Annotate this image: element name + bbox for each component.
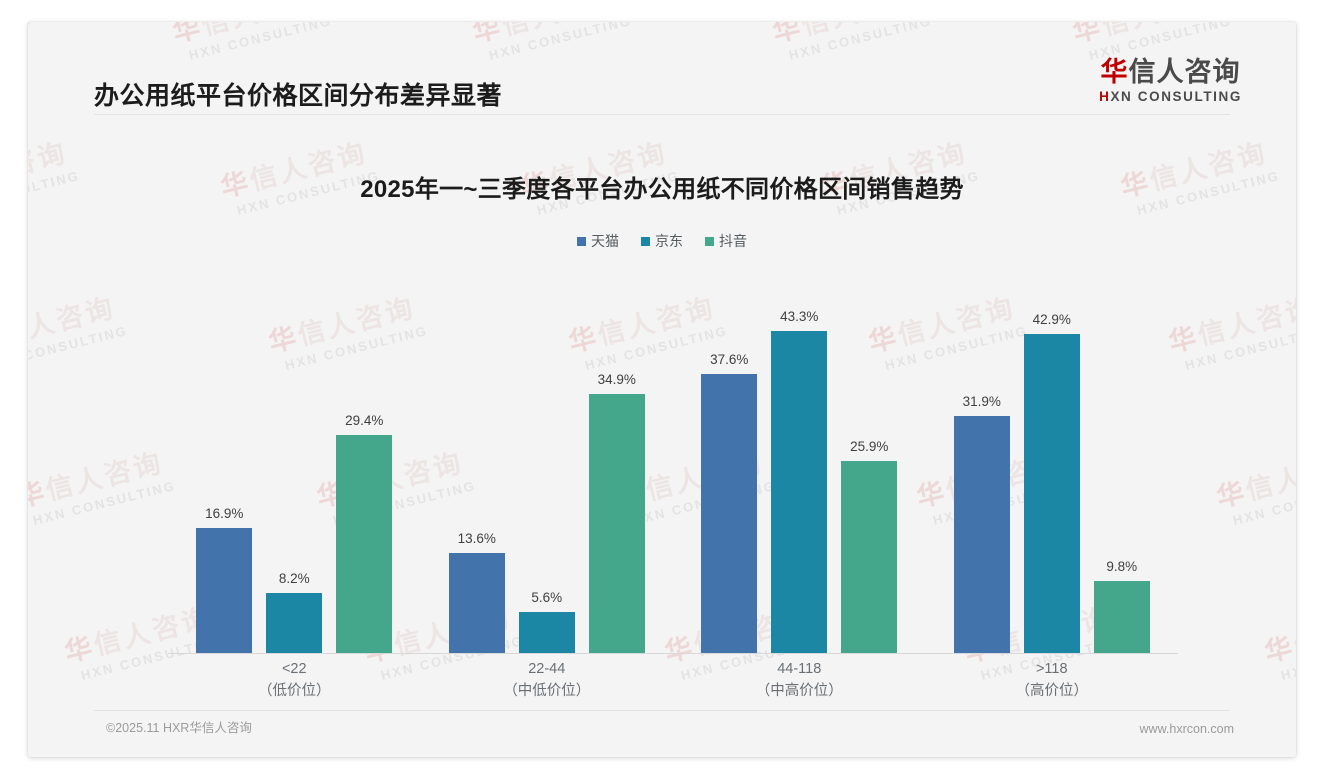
bar[interactable] — [589, 394, 645, 654]
bar[interactable] — [1094, 581, 1150, 654]
bar-value-label: 8.2% — [279, 571, 310, 586]
bar[interactable] — [266, 593, 322, 654]
slide-card: 华信人咨询HXN CONSULTING华信人咨询HXN CONSULTING华信… — [28, 22, 1296, 757]
bar-value-label: 37.6% — [710, 352, 748, 367]
x-axis-tick-label: <22（低价位） — [168, 658, 421, 703]
page-title: 办公用纸平台价格区间分布差异显著 — [94, 76, 502, 112]
watermark: 华信人咨询HXN CONSULTING — [408, 749, 573, 757]
bar-value-label: 25.9% — [850, 439, 888, 454]
brand-logo-en-rest: XN CONSULTING — [1110, 89, 1242, 104]
legend-swatch-icon — [705, 237, 714, 246]
chart-title: 2025年一~三季度各平台办公用纸不同价格区间销售趋势 — [28, 169, 1296, 204]
bar-column: 8.2% — [266, 272, 322, 654]
watermark: 华信人咨询HXN CONSULTING — [108, 749, 273, 757]
legend-item-0[interactable]: 天猫 — [577, 234, 619, 248]
bar-column: 16.9% — [196, 272, 252, 654]
brand-logo-cn-rest: 信人咨询 — [1129, 57, 1241, 87]
x-axis-line — [168, 653, 1178, 654]
chart-legend: 天猫京东抖音 — [28, 234, 1296, 248]
chart-plot-area: 16.9%8.2%29.4%13.6%5.6%34.9%37.6%43.3%25… — [168, 272, 1178, 654]
bar-group: 16.9%8.2%29.4% — [168, 272, 421, 654]
bar-column: 43.3% — [771, 272, 827, 654]
x-axis-tick-sublabel: （中高价位） — [673, 680, 926, 702]
bar-value-label: 31.9% — [963, 394, 1001, 409]
bar-column: 5.6% — [519, 272, 575, 654]
bar-column: 25.9% — [841, 272, 897, 654]
header-divider — [94, 114, 1230, 115]
bar-column: 42.9% — [1024, 272, 1080, 654]
brand-logo-en-red: H — [1099, 89, 1110, 104]
bar[interactable] — [701, 374, 757, 654]
bar-group: 37.6%43.3%25.9% — [673, 272, 926, 654]
bar[interactable] — [771, 331, 827, 654]
x-axis-tick-range: <22 — [282, 661, 307, 677]
bar-group: 13.6%5.6%34.9% — [421, 272, 674, 654]
bar-value-label: 43.3% — [780, 309, 818, 324]
x-axis-labels: <22（低价位）22-44（中低价位）44-118（中高价位）>118（高价位） — [168, 658, 1178, 703]
bar[interactable] — [336, 435, 392, 654]
legend-label: 天猫 — [591, 234, 619, 248]
legend-swatch-icon — [577, 237, 586, 246]
bar-value-label: 16.9% — [205, 506, 243, 521]
x-axis-tick-label: 22-44（中低价位） — [421, 658, 674, 703]
bar-column: 13.6% — [449, 272, 505, 654]
bar-column: 9.8% — [1094, 272, 1150, 654]
bar-value-label: 5.6% — [531, 590, 562, 605]
brand-logo-en: HXN CONSULTING — [1099, 89, 1242, 104]
legend-label: 抖音 — [719, 234, 747, 248]
legend-item-2[interactable]: 抖音 — [705, 234, 747, 248]
bar-value-label: 13.6% — [458, 531, 496, 546]
bar[interactable] — [196, 528, 252, 654]
bar[interactable] — [841, 461, 897, 654]
footer-copyright: ©2025.11 HXR华信人咨询 — [106, 717, 252, 736]
bar-value-label: 42.9% — [1033, 312, 1071, 327]
x-axis-tick-range: 44-118 — [777, 661, 821, 677]
watermark: 华信人咨询HXN CONSULTING — [708, 749, 873, 757]
bar[interactable] — [954, 416, 1010, 654]
brand-logo-cn: 华信人咨询 — [1099, 58, 1242, 86]
bar-value-label: 34.9% — [598, 372, 636, 387]
x-axis-tick-range: >118 — [1036, 661, 1068, 677]
x-axis-tick-label: 44-118（中高价位） — [673, 658, 926, 703]
bar[interactable] — [519, 612, 575, 654]
bar-column: 34.9% — [589, 272, 645, 654]
bar-column: 29.4% — [336, 272, 392, 654]
slide-header: 办公用纸平台价格区间分布差异显著 华信人咨询 HXN CONSULTING — [28, 22, 1296, 114]
bar-value-label: 9.8% — [1106, 559, 1137, 574]
watermark: 华信人咨询HXN CONSULTING — [1164, 284, 1296, 375]
x-axis-tick-range: 22-44 — [528, 661, 565, 677]
watermark: 华信人咨询HXN CONSULTING — [1008, 749, 1173, 757]
bar[interactable] — [1024, 334, 1080, 654]
bar-group: 31.9%42.9%9.8% — [926, 272, 1179, 654]
bar[interactable] — [449, 553, 505, 654]
footer-divider — [94, 710, 1230, 711]
watermark: 华信人咨询HXN CONSULTING — [28, 439, 177, 530]
bar-column: 31.9% — [954, 272, 1010, 654]
footer-website[interactable]: www.hxrcon.com — [1140, 722, 1234, 736]
x-axis-tick-sublabel: （高价位） — [926, 680, 1179, 702]
watermark: 华信人咨询HXN CONSULTING — [28, 284, 129, 375]
legend-label: 京东 — [655, 234, 683, 248]
x-axis-tick-sublabel: （低价位） — [168, 680, 421, 702]
slide-canvas: 华信人咨询HXN CONSULTING华信人咨询HXN CONSULTING华信… — [0, 0, 1340, 780]
bar-column: 37.6% — [701, 272, 757, 654]
watermark: 华信人咨询HXN CONSULTING — [1212, 439, 1296, 530]
x-axis-tick-sublabel: （中低价位） — [421, 680, 674, 702]
watermark: 华信人咨询HXN CONSULTING — [1260, 594, 1296, 685]
legend-swatch-icon — [641, 237, 650, 246]
legend-item-1[interactable]: 京东 — [641, 234, 683, 248]
bar-groups: 16.9%8.2%29.4%13.6%5.6%34.9%37.6%43.3%25… — [168, 272, 1178, 654]
brand-logo-cn-red: 华 — [1101, 57, 1129, 87]
x-axis-tick-label: >118（高价位） — [926, 658, 1179, 703]
bar-value-label: 29.4% — [345, 413, 383, 428]
brand-logo: 华信人咨询 HXN CONSULTING — [1099, 58, 1242, 104]
